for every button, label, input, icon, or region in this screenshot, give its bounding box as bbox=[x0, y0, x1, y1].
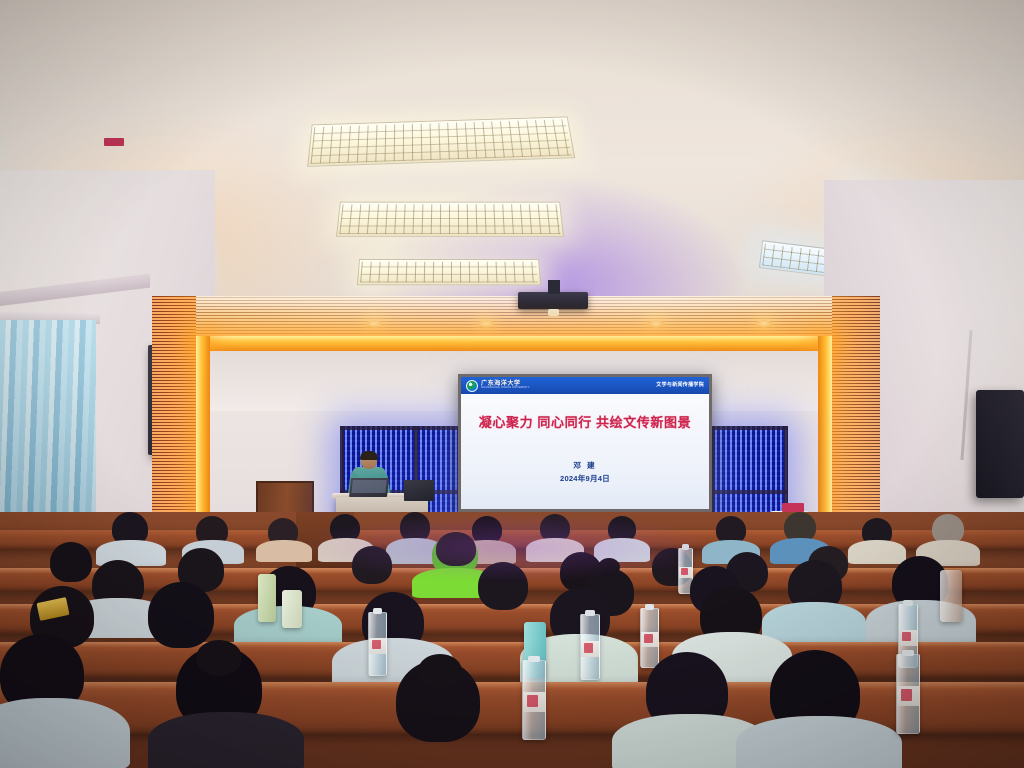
audience-shoulders bbox=[736, 716, 902, 768]
slide-date: 2024年9月4日 bbox=[560, 475, 610, 483]
audience-head bbox=[148, 582, 214, 648]
presenter-hair bbox=[360, 451, 378, 460]
led-strip-top bbox=[196, 336, 832, 351]
water-bottle bbox=[522, 660, 546, 740]
presenter-laptop bbox=[349, 478, 389, 497]
ceiling-light-panel bbox=[336, 202, 564, 237]
thermos-flask bbox=[282, 590, 302, 628]
bottle-label bbox=[899, 630, 917, 646]
bottle-cap bbox=[585, 610, 594, 616]
bottle-label bbox=[641, 632, 658, 647]
projector-mount bbox=[548, 280, 560, 294]
bottle-label bbox=[897, 686, 919, 706]
department-name: 文学与新闻传播学院 bbox=[656, 383, 704, 388]
projector-lens bbox=[548, 309, 559, 316]
audience-shoulders bbox=[256, 540, 312, 562]
bottle-cap bbox=[645, 604, 654, 610]
bottle-cap bbox=[903, 600, 912, 606]
bottle-label bbox=[523, 692, 545, 712]
bottle-cap bbox=[682, 544, 689, 550]
slide-body: 凝心聚力 同心同行 共绘文传新图景 邓 建 2024年9月4日 bbox=[461, 394, 709, 509]
ceiling-light-panel bbox=[307, 117, 575, 167]
slide-title: 凝心聚力 同心同行 共绘文传新图景 bbox=[479, 416, 691, 429]
bottle-label bbox=[369, 638, 386, 654]
thermos-flask bbox=[258, 574, 276, 622]
audience-seating-area bbox=[0, 512, 1024, 768]
desk-edge bbox=[0, 682, 1024, 689]
tumbler-cup bbox=[940, 570, 962, 622]
audience-head bbox=[352, 546, 392, 584]
slide-header-bar: 广东海洋大学 GUANGDONG OCEAN UNIVERSITY 文学与新闻传… bbox=[461, 377, 709, 394]
downlight bbox=[756, 320, 772, 328]
lecture-hall-photo: 广东海洋大学 GUANGDONG OCEAN UNIVERSITY 文学与新闻传… bbox=[0, 0, 1024, 768]
water-bottle bbox=[896, 654, 920, 734]
downlight bbox=[478, 320, 494, 328]
downlight bbox=[648, 320, 664, 328]
hair-bun bbox=[418, 654, 462, 688]
bottle-cap bbox=[902, 650, 913, 656]
university-name-english: GUANGDONG OCEAN UNIVERSITY bbox=[481, 387, 530, 390]
water-bottle bbox=[368, 612, 387, 676]
university-emblem-icon bbox=[466, 380, 478, 392]
desk-edge bbox=[0, 642, 1024, 647]
water-bottle bbox=[580, 614, 600, 680]
bottle-cap bbox=[528, 656, 539, 662]
presentation-slide: 广东海洋大学 GUANGDONG OCEAN UNIVERSITY 文学与新闻传… bbox=[461, 377, 709, 509]
hair-bun bbox=[598, 558, 620, 576]
proscenium-soffit bbox=[196, 296, 832, 340]
bottle-label bbox=[679, 567, 692, 578]
audience-head bbox=[50, 542, 92, 582]
exit-sign bbox=[104, 138, 124, 146]
audience-head bbox=[478, 562, 528, 610]
audience-shoulders bbox=[848, 540, 906, 564]
exit-sign bbox=[782, 503, 804, 512]
desk-row bbox=[0, 642, 1024, 678]
audience-shoulders bbox=[148, 712, 304, 768]
downlight bbox=[366, 320, 382, 328]
audience-head bbox=[436, 532, 476, 566]
bottle-cap bbox=[373, 608, 382, 614]
bottle-label bbox=[581, 641, 599, 658]
wall-display bbox=[976, 390, 1024, 498]
university-logo: 广东海洋大学 GUANGDONG OCEAN UNIVERSITY bbox=[466, 380, 530, 392]
audience-shoulders bbox=[0, 698, 130, 768]
ceiling-projector bbox=[518, 292, 588, 309]
hair-bun bbox=[196, 640, 242, 676]
logo-text-block: 广东海洋大学 GUANGDONG OCEAN UNIVERSITY bbox=[481, 381, 530, 390]
slide-presenter-name: 邓 建 bbox=[573, 462, 596, 470]
water-bottle bbox=[640, 608, 659, 668]
projection-screen: 广东海洋大学 GUANGDONG OCEAN UNIVERSITY 文学与新闻传… bbox=[458, 374, 712, 512]
ceiling-light-panel bbox=[357, 259, 541, 285]
confidence-monitor bbox=[404, 480, 434, 501]
